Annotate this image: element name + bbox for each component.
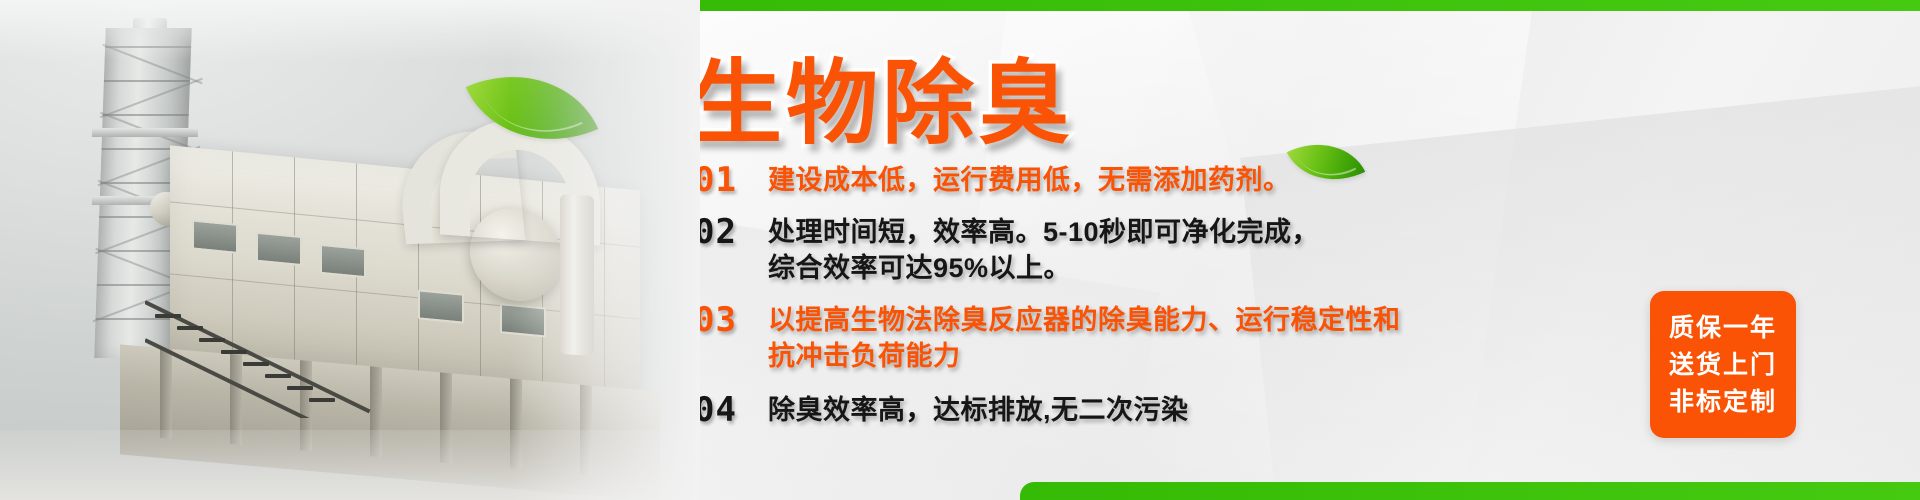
list-item: 03 以提高生物法除臭反应器的除臭能力、运行稳定性和 抗冲击负荷能力 <box>694 302 1674 374</box>
guarantee-badge: 质保一年 送货上门 非标定制 <box>1650 291 1796 438</box>
list-item-text: 处理时间短，效率高。5-10秒即可净化完成， 综合效率可达95%以上。 <box>768 214 1319 286</box>
list-item: 04 除臭效率高，达标排放,无二次污染 <box>694 392 1674 428</box>
list-item: 02 处理时间短，效率高。5-10秒即可净化完成， 综合效率可达95%以上。 <box>694 214 1674 286</box>
photo-platform <box>92 128 198 137</box>
list-item-text: 以提高生物法除臭反应器的除臭能力、运行稳定性和 抗冲击负荷能力 <box>768 302 1401 374</box>
banner-content: 生物除臭 01 建设成本低，运行费用低，无需添加药剂。 02 处理时间短，效率高… <box>690 0 1690 500</box>
promo-banner: 生物除臭 01 建设成本低，运行费用低，无需添加药剂。 02 处理时间短，效率高… <box>0 0 1920 500</box>
headline: 生物除臭 <box>690 58 1074 150</box>
list-item-number: 02 <box>694 214 768 250</box>
product-photo <box>0 0 700 500</box>
badge-line-custom: 非标定制 <box>1669 388 1777 416</box>
badge-line-warranty: 质保一年 <box>1669 314 1777 342</box>
list-item-number: 03 <box>694 302 768 338</box>
list-item-number: 01 <box>694 162 768 198</box>
list-item: 01 建设成本低，运行费用低，无需添加药剂。 <box>694 162 1674 198</box>
photo-edge-fade <box>510 0 700 500</box>
list-item-text: 建设成本低，运行费用低，无需添加药剂。 <box>768 162 1291 198</box>
list-item-number: 04 <box>694 392 768 428</box>
photo-staircase <box>145 300 375 418</box>
badge-line-delivery: 送货上门 <box>1669 351 1777 379</box>
list-item-text: 除臭效率高，达标排放,无二次污染 <box>768 392 1189 428</box>
feature-list: 01 建设成本低，运行费用低，无需添加药剂。 02 处理时间短，效率高。5-10… <box>694 160 1674 442</box>
